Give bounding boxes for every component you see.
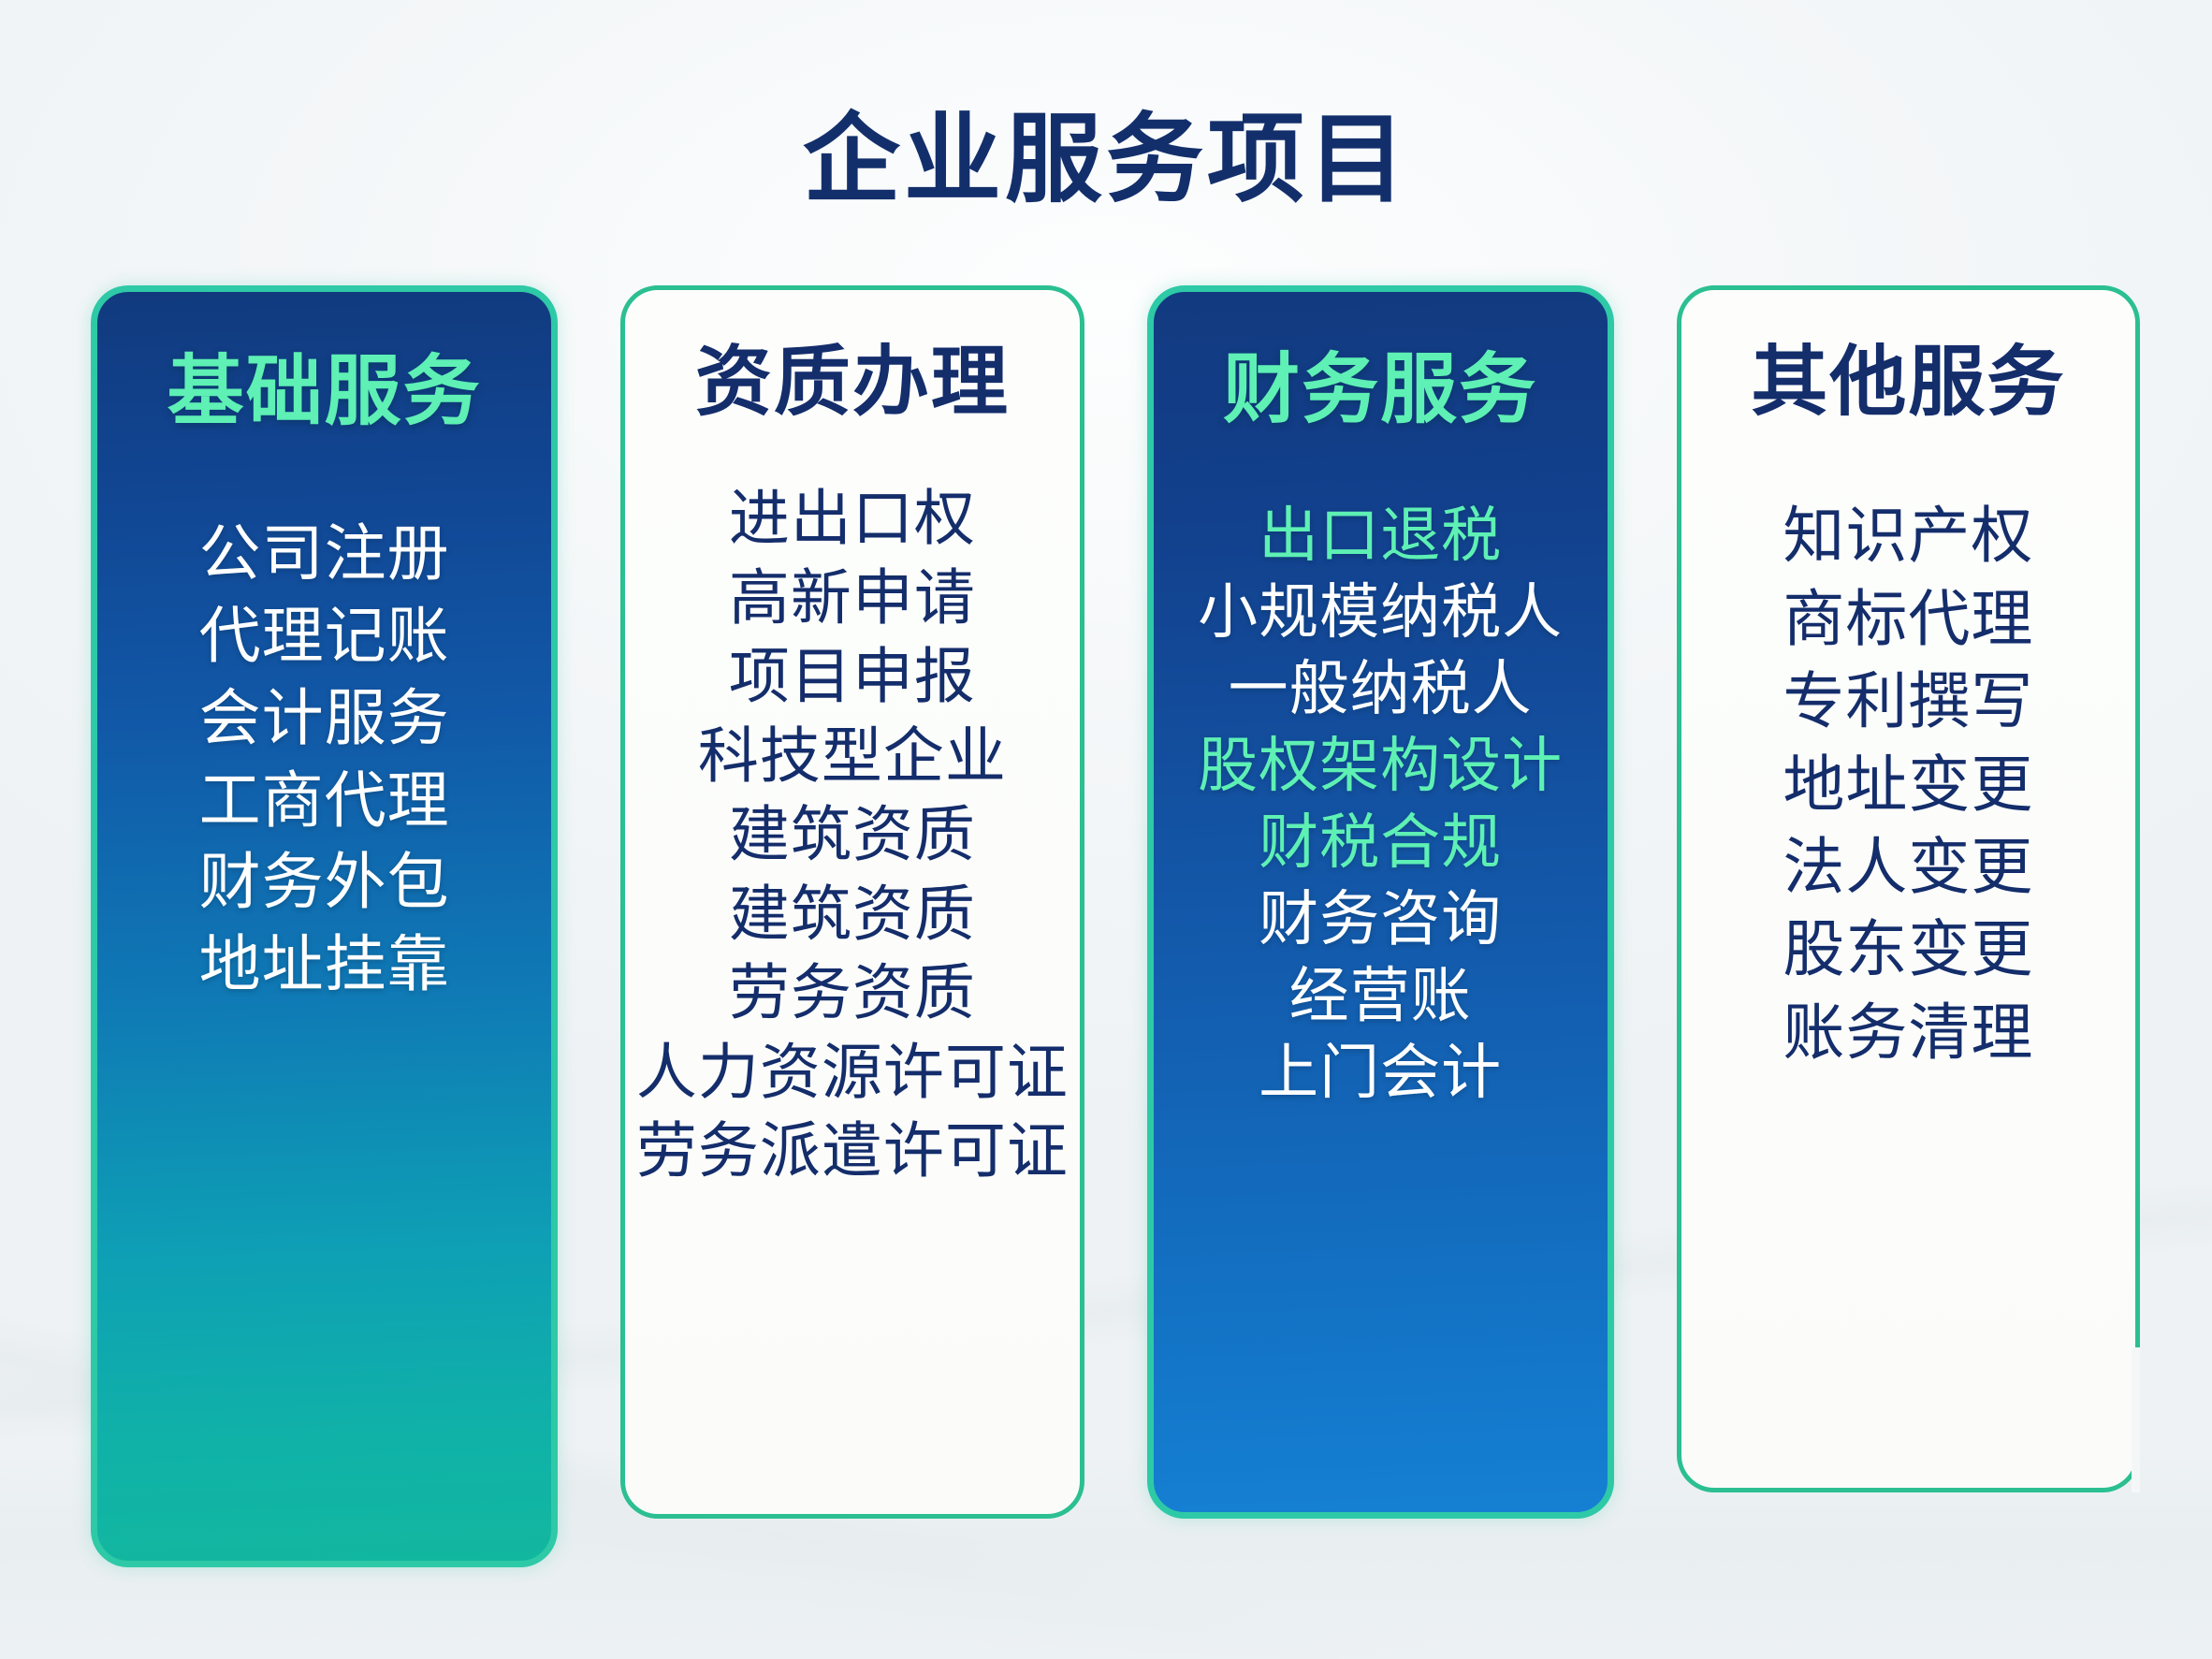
- list-item[interactable]: 财税合规: [1154, 805, 1608, 881]
- list-item[interactable]: 地址变更: [1681, 743, 2135, 825]
- list-item[interactable]: 财务外包: [97, 841, 551, 924]
- list-item[interactable]: 法人变更: [1681, 825, 2135, 908]
- list-item[interactable]: 地址挂靠: [97, 924, 551, 1006]
- list-item[interactable]: 人力资源许可证: [625, 1033, 1079, 1113]
- card-title-basic: 基础服务: [167, 348, 482, 436]
- service-card-other[interactable]: 其他服务 知识产权 商标代理 专利撰写 地址变更 法人变更 股东变更 账务清理: [1677, 285, 2140, 1492]
- service-list-finance: 出口退税 小规模纳税人 一般纳税人 股权架构设计 财税合规 财务咨询 经营账 上…: [1154, 498, 1608, 1111]
- list-item[interactable]: 建筑资质: [625, 875, 1079, 954]
- list-item[interactable]: 劳务派遣许可证: [625, 1112, 1079, 1191]
- list-item[interactable]: 公司注册: [97, 513, 551, 595]
- list-item[interactable]: 项目申报: [625, 637, 1079, 717]
- list-item[interactable]: 劳务资质: [625, 953, 1079, 1033]
- list-item[interactable]: 账务清理: [1681, 991, 2135, 1073]
- service-list-basic: 公司注册 代理记账 会计服务 工商代理 财务外包 地址挂靠: [97, 513, 551, 1006]
- list-item[interactable]: 知识产权: [1681, 494, 2135, 576]
- list-item[interactable]: 股东变更: [1681, 908, 2135, 990]
- list-item[interactable]: 会计服务: [97, 677, 551, 760]
- list-item[interactable]: 商标代理: [1681, 577, 2135, 660]
- service-cards-container: 基础服务 公司注册 代理记账 会计服务 工商代理 财务外包 地址挂靠 资质办理 …: [91, 285, 2140, 1572]
- list-item[interactable]: 工商代理: [97, 760, 551, 842]
- list-item[interactable]: 高新申请: [625, 559, 1079, 638]
- list-item[interactable]: 出口退税: [1154, 498, 1608, 575]
- card-title-qualification: 资质办理: [695, 339, 1010, 427]
- list-item[interactable]: 一般纳税人: [1154, 651, 1608, 728]
- service-list-other: 知识产权 商标代理 专利撰写 地址变更 法人变更 股东变更 账务清理: [1681, 494, 2135, 1073]
- list-item[interactable]: 小规模纳税人: [1154, 575, 1608, 651]
- page-title: 企业服务项目: [0, 107, 2212, 213]
- list-item[interactable]: 股权架构设计: [1154, 728, 1608, 805]
- list-item[interactable]: 科技型企业: [625, 717, 1079, 796]
- list-item[interactable]: 进出口权: [625, 479, 1079, 559]
- service-list-qualification: 进出口权 高新申请 项目申报 科技型企业 建筑资质 建筑资质 劳务资质 人力资源…: [625, 479, 1079, 1191]
- list-item[interactable]: 上门会计: [1154, 1035, 1608, 1112]
- list-item[interactable]: 专利撰写: [1681, 660, 2135, 742]
- service-card-basic[interactable]: 基础服务 公司注册 代理记账 会计服务 工商代理 财务外包 地址挂靠: [91, 285, 558, 1567]
- card-title-other: 其他服务: [1751, 339, 2065, 427]
- service-card-qualification[interactable]: 资质办理 进出口权 高新申请 项目申报 科技型企业 建筑资质 建筑资质 劳务资质…: [620, 285, 1084, 1519]
- list-item[interactable]: 建筑资质: [625, 795, 1079, 875]
- card-title-finance: 财务服务: [1223, 346, 1537, 434]
- list-item[interactable]: 财务咨询: [1154, 881, 1608, 958]
- service-card-finance[interactable]: 财务服务 出口退税 小规模纳税人 一般纳税人 股权架构设计 财税合规 财务咨询 …: [1147, 285, 1614, 1519]
- list-item[interactable]: 代理记账: [97, 595, 551, 677]
- list-item[interactable]: 经营账: [1154, 958, 1608, 1035]
